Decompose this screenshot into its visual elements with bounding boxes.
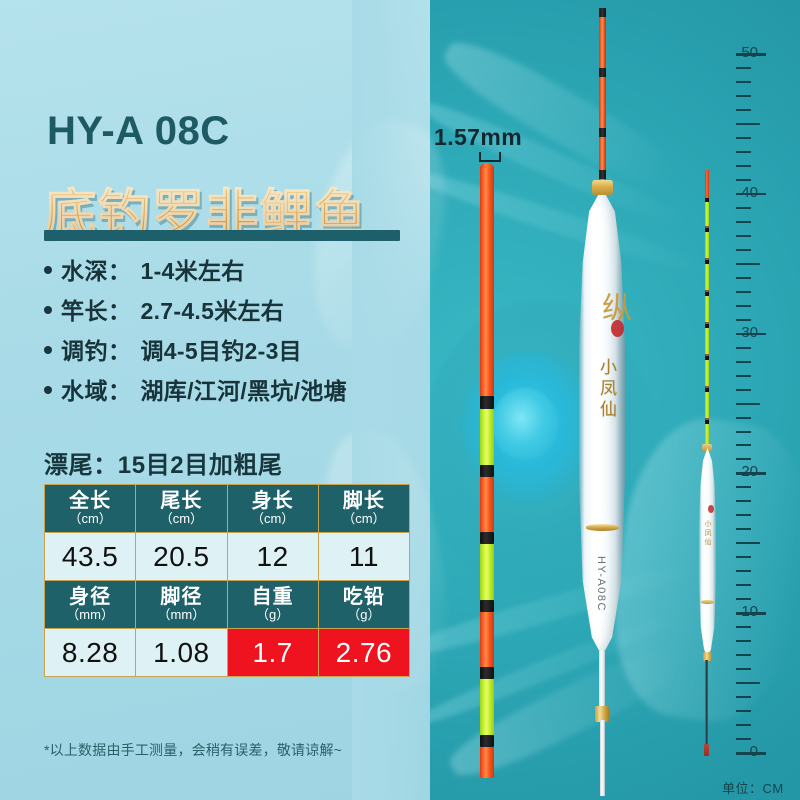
tail-segment-black (480, 465, 494, 477)
header-unit: （mm） (45, 608, 135, 622)
float-gold-ring (586, 524, 619, 531)
scale-tail-segment (705, 328, 709, 354)
ruler-tick-minor (736, 389, 751, 391)
list-item: 水域： 湖库/江河/黑坑/池塘 (44, 372, 424, 412)
ruler-tick-minor (736, 95, 751, 97)
tail-segment-black (480, 735, 494, 747)
scale-tail-mark (705, 356, 709, 360)
bullet-dot-icon (44, 346, 52, 354)
tail-segment-green (480, 544, 494, 600)
scale-float-ring (701, 600, 714, 604)
ruler-tick-minor (736, 361, 751, 363)
scale-float-brand-text: 小凤仙 (703, 520, 713, 547)
header-name: 身长 (228, 491, 318, 512)
tail-segment-green (480, 409, 494, 465)
table-header-row: 全长 （cm） 尾长 （cm） 身长 （cm） 脚长 （cm） (45, 485, 410, 533)
ruler-tick-minor (736, 570, 751, 572)
ruler-tick-minor (736, 458, 751, 460)
header-name: 全长 (45, 491, 135, 512)
bullet-value: 调4-5目钓2-3目 (141, 332, 302, 366)
table-row: 8.28 1.08 1.7 2.76 (45, 629, 410, 677)
bullet-value: 湖库/江河/黑坑/池塘 (141, 372, 347, 406)
table-header-cell: 自重 （g） (227, 581, 318, 629)
scale-tail-segment (705, 392, 709, 418)
model-code: HY-A 08C (47, 109, 230, 154)
float-model-text: HY-A08C (595, 556, 607, 612)
ruler-tick-mid (736, 542, 760, 544)
scale-tail-segment (705, 360, 709, 386)
main-float-illustration: 纵 小凤仙 HY-A08C (566, 0, 638, 800)
product-infographic: HY-A 08C 底钓罗非鲤鱼 水深： 1-4米左右 竿长： 2.7-4.5米左… (0, 0, 800, 800)
ruler-label: 40 (724, 184, 758, 201)
ruler-tick-minor (736, 500, 751, 502)
bullet-dot-icon (44, 306, 52, 314)
table-cell: 11 (318, 533, 409, 581)
ruler-tick-minor (736, 626, 751, 628)
table-header-cell: 吃铅 （g） (318, 581, 409, 629)
tail-segment-green (480, 679, 494, 735)
ruler-tick-minor (736, 109, 751, 111)
header-unit: （mm） (136, 608, 226, 622)
ruler-tick-minor (736, 668, 751, 670)
header-unit: （g） (319, 608, 409, 622)
ruler-tick-minor (736, 486, 751, 488)
header-unit: （cm） (228, 512, 318, 526)
scale-tail-mark (705, 198, 709, 202)
ruler-tick-minor (736, 235, 751, 237)
scale-reference-float: 小凤仙 (694, 0, 722, 800)
tail-segment-black (480, 396, 494, 409)
float-stem-lower (600, 720, 605, 796)
scale-float-base-tip (704, 744, 709, 756)
ruler-label: 20 (724, 463, 758, 480)
table-header-cell: 脚径 （mm） (136, 581, 227, 629)
ruler-tick-minor (736, 710, 751, 712)
ruler-tick-minor (736, 165, 751, 167)
table-header-cell: 身长 （cm） (227, 485, 318, 533)
header-name: 吃铅 (319, 587, 409, 608)
ruler-tick-minor (736, 277, 751, 279)
ruler-tick-minor (736, 67, 751, 69)
ruler-label: 0 (724, 743, 758, 760)
scale-tail-segment (705, 424, 709, 446)
ruler-tick-minor (736, 654, 751, 656)
tail-segment-black (480, 600, 494, 612)
spec-bullet-list: 水深： 1-4米左右 竿长： 2.7-4.5米左右 调钓： 调4-5目钓2-3目… (44, 252, 424, 412)
header-name: 身径 (45, 587, 135, 608)
ruler-tick-minor (736, 431, 751, 433)
caliper-bracket-icon (479, 152, 501, 162)
header-unit: （cm） (319, 512, 409, 526)
ruler-tick-minor (736, 528, 751, 530)
brand-seal-icon (611, 320, 624, 337)
ruler-tick-minor (736, 137, 751, 139)
enlarged-tail-diagram (480, 168, 494, 778)
header-name: 脚长 (319, 491, 409, 512)
ruler-tick-mid (736, 263, 760, 265)
float-stem-upper (599, 650, 605, 710)
table-cell: 8.28 (45, 629, 136, 677)
table-header-cell: 身径 （mm） (45, 581, 136, 629)
ruler-tick-minor (736, 640, 751, 642)
ruler-unit-label: 单位：CM (722, 778, 784, 797)
tail-segment-orange (480, 612, 494, 667)
bullet-label: 水域： (61, 372, 132, 406)
table-header-cell: 全长 （cm） (45, 485, 136, 533)
table-row: 43.5 20.5 12 11 (45, 533, 410, 581)
header-name: 脚径 (136, 587, 226, 608)
tail-segment-black (480, 532, 494, 544)
ruler-tick-mid (736, 682, 760, 684)
bullet-value: 2.7-4.5米左右 (141, 292, 285, 326)
bullet-dot-icon (44, 386, 52, 394)
ruler-tick-mid (736, 123, 760, 125)
scale-tail-segment (705, 232, 709, 258)
tail-segment-orange (480, 477, 494, 532)
diameter-callout-label: 1.57mm (434, 124, 522, 151)
ruler-tick-minor (736, 81, 751, 83)
ruler-tick-minor (736, 514, 751, 516)
table-cell-highlight: 2.76 (318, 629, 409, 677)
ruler-label: 30 (724, 324, 758, 341)
ruler-tick-minor (736, 319, 751, 321)
ruler-tick-minor (736, 738, 751, 740)
bullet-value: 1-4米左右 (141, 252, 245, 286)
brand-calligraphy-mark: 纵 (591, 292, 635, 322)
ruler-tick-minor (736, 375, 751, 377)
header-unit: （cm） (136, 512, 226, 526)
header-unit: （cm） (45, 512, 135, 526)
tail-band (599, 128, 606, 137)
table-header-cell: 脚长 （cm） (318, 485, 409, 533)
measurement-ruler: 单位：CM 50403020100 (736, 0, 800, 800)
scale-tail-mark (705, 228, 709, 232)
brand-name-text: 小凤仙 (594, 358, 619, 421)
bullet-label: 竿长： (61, 292, 132, 326)
scale-tail-segment (705, 264, 709, 290)
ruler-tick-minor (736, 151, 751, 153)
ruler-tick-minor (736, 179, 751, 181)
ruler-tick-minor (736, 347, 751, 349)
ruler-tick-minor (736, 221, 751, 223)
scale-tail-segment (705, 296, 709, 322)
scale-tail-mark (705, 292, 709, 296)
scale-tail-mark (705, 388, 709, 392)
tail-segment-black (480, 667, 494, 679)
ruler-label: 50 (724, 44, 758, 61)
header-name: 尾长 (136, 491, 226, 512)
bullet-label: 水深： (61, 252, 132, 286)
header-unit: （g） (228, 608, 318, 622)
table-header-row: 身径 （mm） 脚径 （mm） 自重 （g） 吃铅 （g） (45, 581, 410, 629)
float-tail (599, 8, 606, 183)
scale-float-stem (705, 660, 708, 752)
table-cell-highlight: 1.7 (227, 629, 318, 677)
ruler-tick-minor (736, 556, 751, 558)
ruler-tick-minor (736, 249, 751, 251)
table-cell: 20.5 (136, 533, 227, 581)
specification-table: 全长 （cm） 尾长 （cm） 身长 （cm） 脚长 （cm） 43.5 20.… (44, 484, 410, 677)
tail-segment-orange (480, 747, 494, 778)
ruler-tick-mid (736, 403, 760, 405)
ruler-label: 10 (724, 603, 758, 620)
list-item: 水深： 1-4米左右 (44, 252, 424, 292)
table-cell: 12 (227, 533, 318, 581)
ruler-tick-minor (736, 207, 751, 209)
scale-tail-mark (705, 260, 709, 264)
measurement-footnote: *以上数据由手工测量，会稍有误差，敬请谅解~ (44, 740, 342, 760)
table-cell: 1.08 (136, 629, 227, 677)
tail-band (599, 8, 606, 17)
tail-segment-orange (480, 168, 494, 396)
scale-float-seal-icon (708, 505, 714, 513)
ruler-tick-minor (736, 417, 751, 419)
tail-band (599, 68, 606, 77)
ruler-tick-minor (736, 724, 751, 726)
header-name: 自重 (228, 587, 318, 608)
ruler-tick-minor (736, 696, 751, 698)
scale-float-body (699, 448, 716, 656)
table-header-cell: 尾长 （cm） (136, 485, 227, 533)
ruler-tick-minor (736, 598, 751, 600)
bullet-dot-icon (44, 266, 52, 274)
ruler-tick-minor (736, 444, 751, 446)
scale-float-tail-tip (705, 170, 709, 200)
bullet-label: 调钓： (61, 332, 132, 366)
list-item: 调钓： 调4-5目钓2-3目 (44, 332, 424, 372)
ruler-tick-minor (736, 291, 751, 293)
float-gold-collar (592, 180, 613, 195)
tail-spec-line: 漂尾：15目2目加粗尾 (44, 445, 283, 480)
ruler-tick-minor (736, 305, 751, 307)
peacock-feather-pupil (492, 388, 558, 460)
table-cell: 43.5 (45, 533, 136, 581)
ruler-tick-minor (736, 584, 751, 586)
scale-tail-segment (705, 200, 709, 226)
list-item: 竿长： 2.7-4.5米左右 (44, 292, 424, 332)
tail-band (599, 170, 606, 179)
title-underline (44, 230, 400, 241)
scale-tail-mark (705, 324, 709, 328)
scale-tail-mark (705, 420, 709, 424)
